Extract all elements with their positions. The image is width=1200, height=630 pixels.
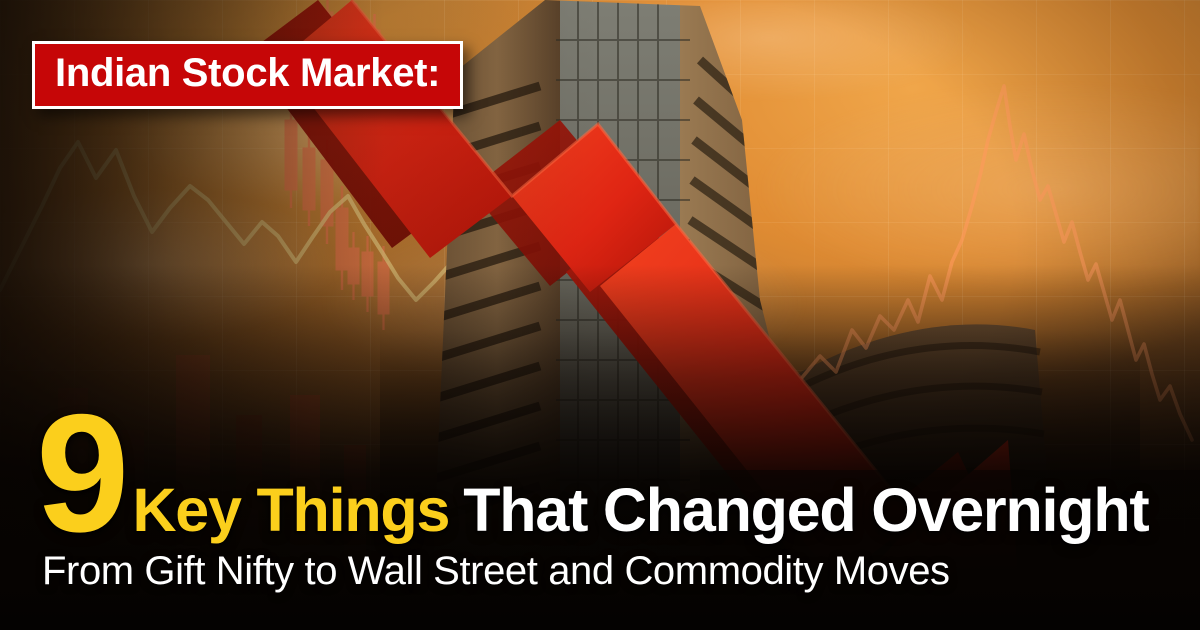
headline-block: 9 Key Things That Changed Overnight From…	[36, 408, 1176, 592]
count-number: 9	[36, 408, 124, 539]
headline-accent-text: Key Things	[132, 480, 449, 541]
headline-rest-text: That Changed Overnight	[463, 480, 1148, 541]
thumbnail-banner: BSE	[0, 0, 1200, 630]
subheadline-text: From Gift Nifty to Wall Street and Commo…	[42, 550, 1176, 592]
headline-main-line: 9 Key Things That Changed Overnight	[36, 408, 1176, 541]
kicker-text: Indian Stock Market:	[55, 53, 440, 94]
kicker-banner: Indian Stock Market:	[32, 41, 463, 109]
